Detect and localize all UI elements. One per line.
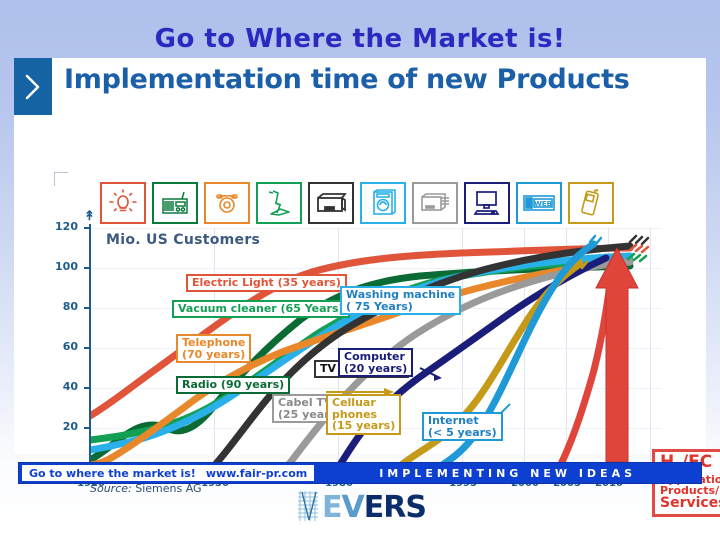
y-tick-120: 120 [32, 220, 78, 233]
content-panel: Implementation time of new Products [14, 58, 706, 454]
evers-logo: EVERS [296, 490, 426, 523]
chart-units-label: Mio. US Customers [106, 232, 260, 248]
y-axis-arrow-icon: ↟ [84, 208, 95, 224]
callout-radio: Radio (90 years) [176, 376, 290, 394]
slide-title: Go to Where the Market is! [0, 24, 720, 54]
series-line-h2fc [560, 268, 612, 466]
y-tick-40: 40 [32, 380, 78, 393]
y-tick-100: 100 [32, 260, 78, 273]
page-title: Implementation time of new Products [64, 64, 629, 95]
footer-tagline: Go to where the market is! [29, 467, 196, 480]
chart-area: Electric Light (35 years) Vacuum cleaner… [28, 166, 708, 496]
footer-url[interactable]: www.fair-pr.com [206, 467, 307, 480]
logo-letter-v: V [342, 490, 364, 525]
y-tick-80: 80 [32, 300, 78, 313]
callout-vacuum-cleaner: Vacuum cleaner (65 Years) [172, 300, 350, 318]
callout-electric-light: Electric Light (35 years) [186, 274, 347, 292]
frame-corner-top-left [54, 172, 68, 186]
plot-region: Electric Light (35 years) Vacuum cleaner… [90, 228, 660, 468]
callout-celluar-phones: Celluar phones (15 years) [326, 394, 401, 435]
callout-telephone: Telephone (70 years) [176, 334, 251, 363]
logo-letter-e: E [322, 490, 342, 525]
logo-mark-icon [296, 490, 322, 522]
callout-washing-machine: Washing machine ( 75 Years) [340, 286, 461, 315]
footer-brand[interactable]: Go to where the market is! www.fair-pr.c… [22, 465, 314, 481]
callout-internet: Internet (< 5 years) [422, 412, 503, 441]
header-band: Implementation time of new Products [14, 58, 706, 115]
h2fc-line-services: Services [660, 496, 720, 510]
logo-letters-ers: ERS [364, 490, 426, 525]
h2fc-arrow [596, 248, 638, 462]
y-tick-20: 20 [32, 420, 78, 433]
y-tick-60: 60 [32, 340, 78, 353]
footer-bar: Go to where the market is! www.fair-pr.c… [18, 462, 702, 484]
chevron-right-icon [14, 58, 52, 115]
footer-slogan: IMPLEMENTING NEW IDEAS [314, 467, 701, 480]
callout-computer: Computer (20 years) [338, 348, 413, 377]
